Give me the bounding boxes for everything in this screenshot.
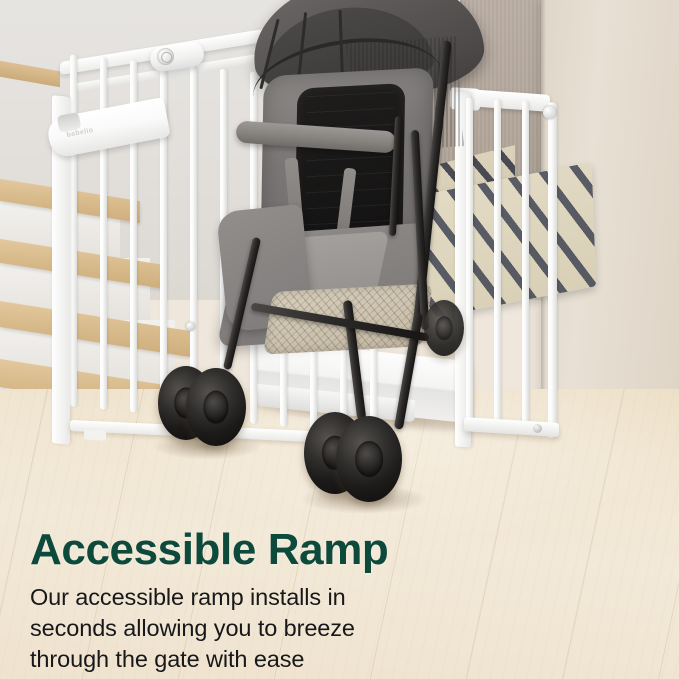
- stroller-wheel-front-outer: [336, 416, 402, 502]
- right-gate-bolt-icon[interactable]: [543, 106, 556, 119]
- caption-line-3: through the gate with ease: [30, 644, 460, 675]
- caption-line-1: Our accessible ramp installs in: [30, 582, 460, 613]
- right-gate-screw-icon: [533, 424, 542, 433]
- gate-screw-icon: [186, 322, 195, 331]
- stroller-wheel-back: [424, 300, 464, 356]
- page-title: Accessible Ramp: [30, 528, 460, 572]
- caption-block: Accessible Ramp Our accessible ramp inst…: [30, 528, 460, 675]
- caption-body: Our accessible ramp installs in seconds …: [30, 582, 460, 675]
- caption-line-2: seconds allowing you to breeze: [30, 613, 460, 644]
- product-feature-image: babelio Accessible Ramp Our accessible r…: [0, 0, 679, 679]
- right-gate-bars: [466, 97, 556, 442]
- stroller-wheel-rear-outer: [186, 368, 246, 446]
- gate-foot: [84, 429, 106, 440]
